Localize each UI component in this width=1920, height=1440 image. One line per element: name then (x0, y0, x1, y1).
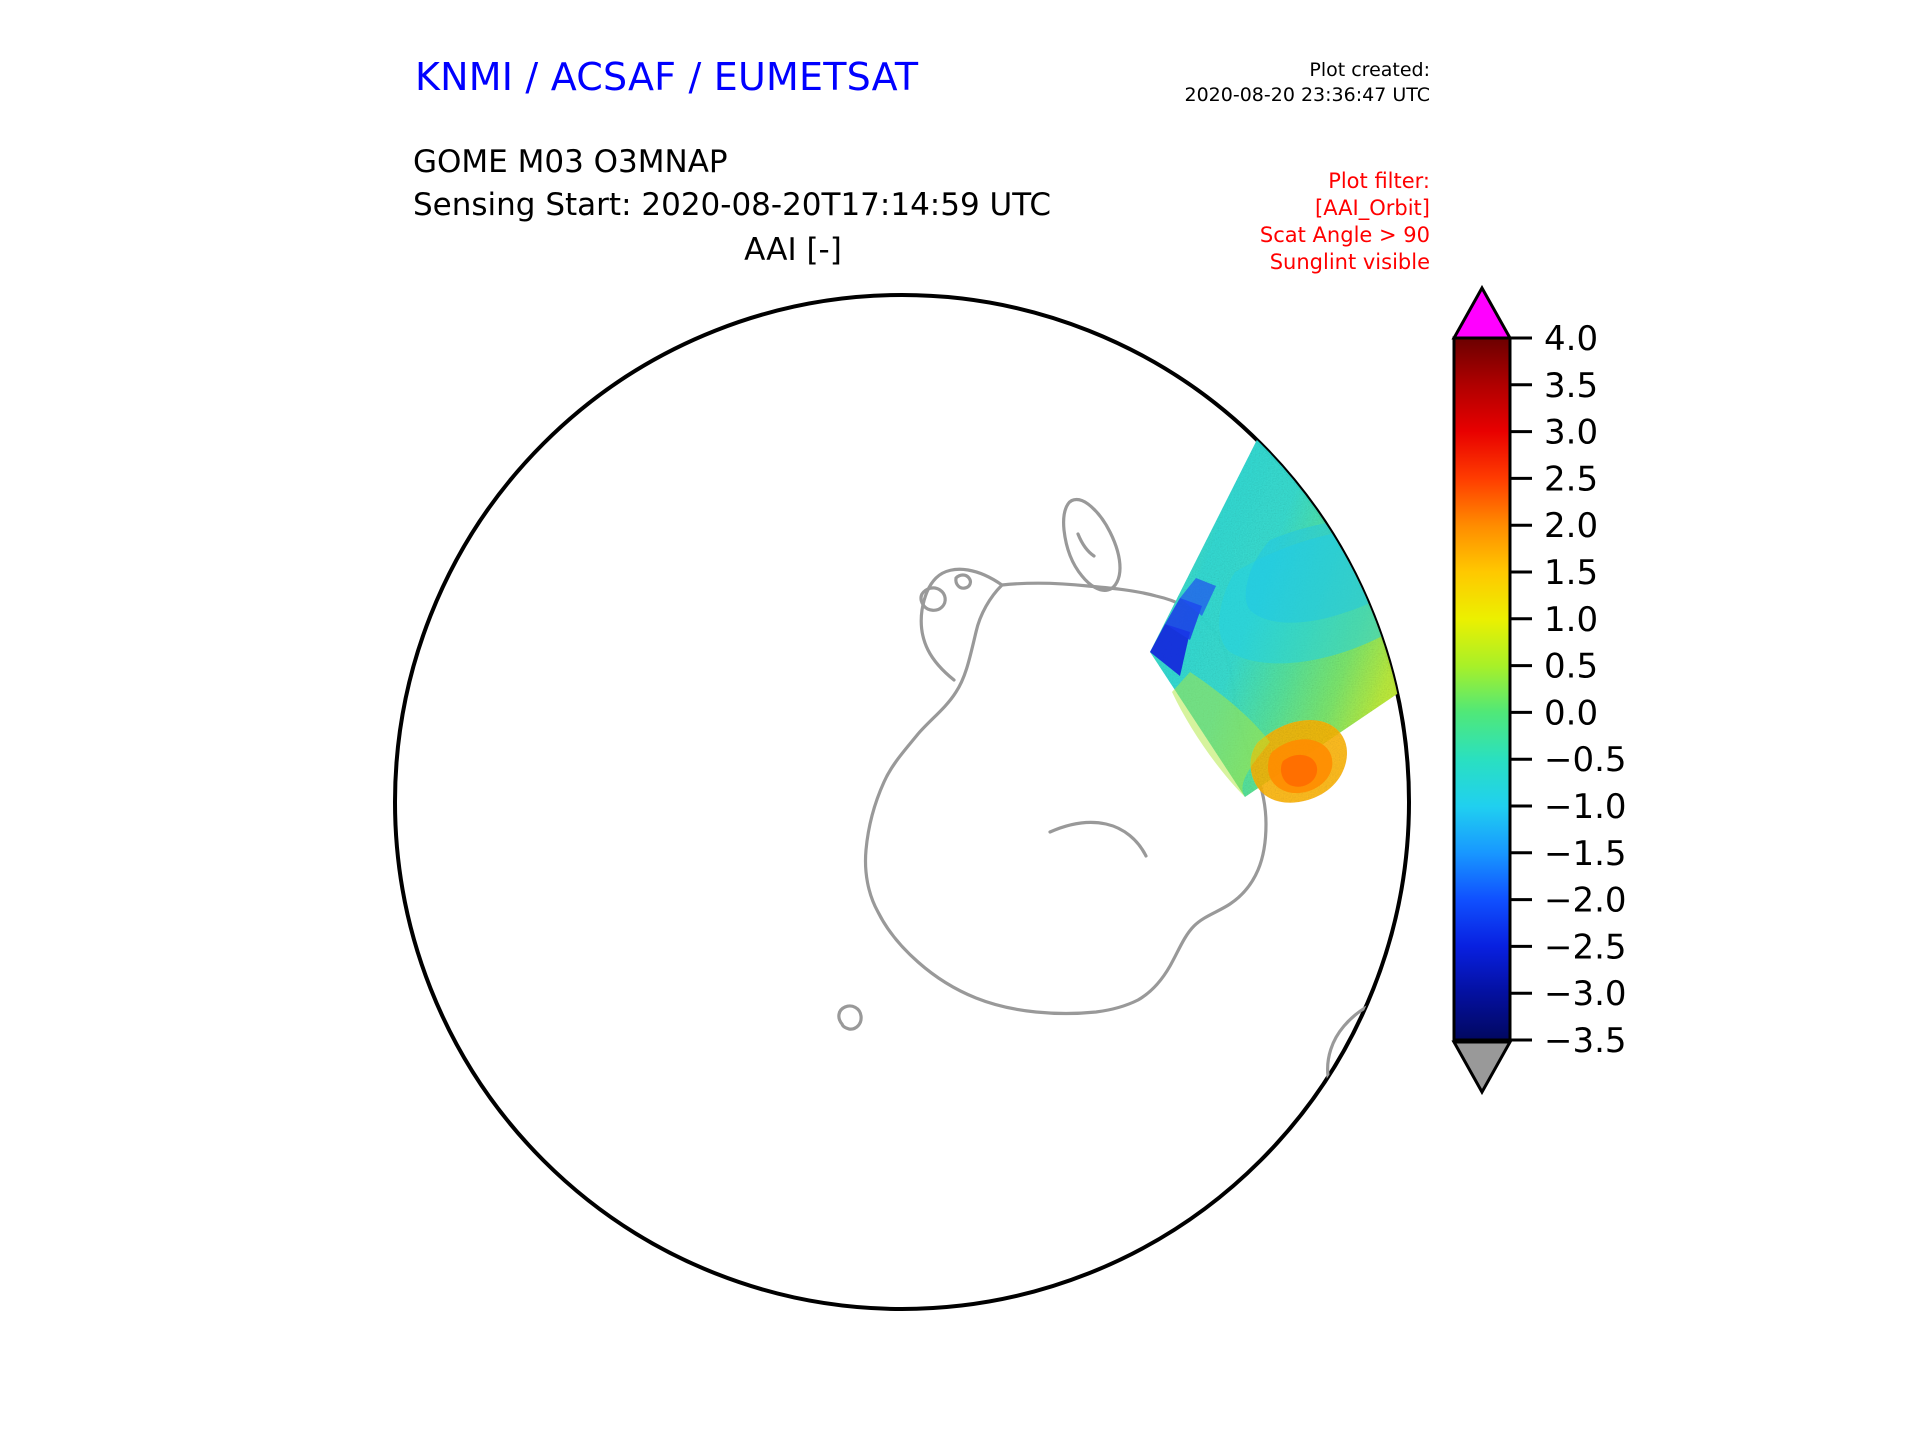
plot-page: KNMI / ACSAF / EUMETSAT Plot created: 20… (0, 0, 1920, 1440)
colorbar-tick-label: −0.5 (1544, 740, 1627, 780)
plot-created-value: 2020-08-20 23:36:47 UTC (1185, 83, 1431, 108)
colorbar-tick-label: −1.0 (1544, 787, 1627, 827)
plot-created-label: Plot created: (1185, 58, 1431, 83)
colorbar-tick-label: −2.5 (1544, 927, 1627, 967)
product-info-block: GOME M03 O3MNAP Sensing Start: 2020-08-2… (413, 141, 1051, 227)
colorbar-tick-label: −1.5 (1544, 834, 1627, 874)
colorbar-tick-label: 0.5 (1544, 647, 1598, 687)
colorbar-tick-label: 3.0 (1544, 413, 1598, 453)
colorbar-tick-label: −3.0 (1544, 974, 1627, 1014)
colorbar-tick-label: 2.0 (1544, 506, 1598, 546)
colorbar-tick-label: −3.5 (1544, 1021, 1627, 1061)
plot-title: AAI [-] (413, 232, 1173, 268)
polar-map (390, 272, 1420, 1332)
colorbar: 4.03.53.02.52.01.51.00.50.0−0.5−1.0−1.5−… (1440, 280, 1860, 1100)
colorbar-over-arrow (1454, 288, 1510, 338)
filter-line-3: Scat Angle > 90 (1260, 222, 1430, 249)
colorbar-ticks: 4.03.53.02.52.01.51.00.50.0−0.5−1.0−1.5−… (1510, 319, 1627, 1061)
colorbar-tick-label: 3.5 (1544, 366, 1598, 406)
filter-line-2: [AAI_Orbit] (1260, 195, 1430, 222)
agency-title: KNMI / ACSAF / EUMETSAT (415, 55, 918, 99)
colorbar-tick-label: 1.0 (1544, 600, 1598, 640)
colorbar-tick-label: 0.0 (1544, 693, 1598, 733)
colorbar-tick-label: 4.0 (1544, 319, 1598, 359)
colorbar-gradient (1454, 338, 1510, 1040)
colorbar-tick-label: 1.5 (1544, 553, 1598, 593)
sensing-start: Sensing Start: 2020-08-20T17:14:59 UTC (413, 184, 1051, 227)
map-panel (390, 272, 1420, 1332)
colorbar-under-arrow (1454, 1042, 1510, 1092)
filter-line-1: Plot filter: (1260, 168, 1430, 195)
colorbar-tick-label: −2.0 (1544, 881, 1627, 921)
plot-created-block: Plot created: 2020-08-20 23:36:47 UTC (1185, 58, 1431, 108)
colorbar-tick-label: 2.5 (1544, 459, 1598, 499)
plot-filter-block: Plot filter: [AAI_Orbit] Scat Angle > 90… (1260, 168, 1430, 276)
colorbar-panel: 4.03.53.02.52.01.51.00.50.0−0.5−1.0−1.5−… (1440, 280, 1860, 1100)
product-name: GOME M03 O3MNAP (413, 141, 1051, 184)
